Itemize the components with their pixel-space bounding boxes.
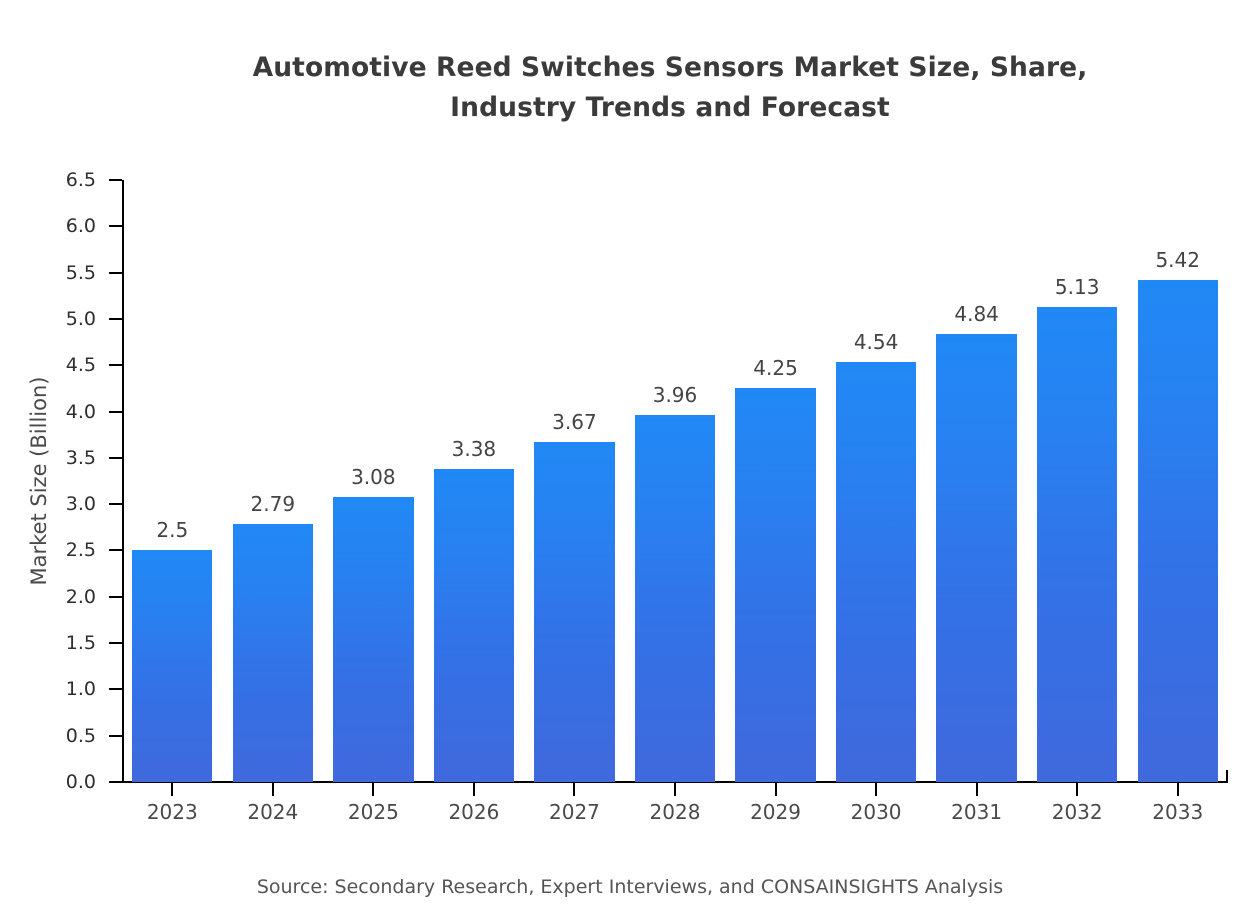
bar[interactable]	[132, 550, 212, 782]
bar-value-label: 2.79	[223, 492, 324, 516]
y-axis-tick-mark	[109, 411, 122, 413]
y-axis-tick-mark	[109, 318, 122, 320]
y-axis-tick-mark	[109, 225, 122, 227]
bar[interactable]	[635, 415, 715, 782]
bar-value-label: 3.96	[625, 383, 726, 407]
y-axis-tick-label: 3.5	[66, 445, 96, 471]
bar[interactable]	[1037, 307, 1117, 782]
y-axis-tick-label: 6.5	[66, 167, 96, 193]
bar-value-label: 4.54	[826, 330, 927, 354]
y-axis-tick-label: 3.0	[66, 491, 96, 517]
x-axis-right-spine-stub	[1226, 770, 1228, 783]
bar-value-label: 5.13	[1027, 275, 1128, 299]
x-axis-tick-mark	[674, 783, 676, 796]
bar[interactable]	[233, 524, 313, 782]
x-axis-tick-mark	[372, 783, 374, 796]
bar[interactable]	[534, 442, 614, 782]
bar[interactable]	[735, 388, 815, 782]
y-axis-tick-mark	[109, 457, 122, 459]
y-axis-tick-mark	[109, 688, 122, 690]
bar[interactable]	[936, 334, 1016, 782]
bar-value-label: 4.84	[926, 302, 1027, 326]
y-axis-tick-label: 5.0	[66, 306, 96, 332]
y-axis-tick-label: 1.5	[66, 630, 96, 656]
bar-value-label: 3.38	[424, 437, 525, 461]
x-axis-tick-mark	[473, 783, 475, 796]
x-axis-tick-mark	[976, 783, 978, 796]
bar-value-label: 5.42	[1127, 248, 1228, 272]
x-axis-tick-mark	[272, 783, 274, 796]
y-axis-tick-label: 0.0	[66, 769, 96, 795]
y-axis-tick-label: 6.0	[66, 213, 96, 239]
y-axis-tick-mark	[109, 272, 122, 274]
y-axis-title: Market Size (Billion)	[22, 180, 56, 782]
chart-title: Automotive Reed Switches Sensors Market …	[130, 48, 1210, 128]
x-axis-tick-mark	[573, 783, 575, 796]
y-axis-tick-mark	[109, 735, 122, 737]
y-axis-tick-mark	[109, 503, 122, 505]
y-axis-tick-mark	[109, 596, 122, 598]
chart-title-line-2: Industry Trends and Forecast	[130, 88, 1210, 128]
bar[interactable]	[333, 497, 413, 782]
y-axis-tick-mark	[109, 781, 122, 783]
source-caption: Source: Secondary Research, Expert Inter…	[0, 876, 1260, 898]
x-axis-tick-mark	[1076, 783, 1078, 796]
x-axis-tick-mark	[1177, 783, 1179, 796]
y-axis-tick-mark	[109, 364, 122, 366]
y-axis-tick-label: 2.5	[66, 537, 96, 563]
chart-title-line-1: Automotive Reed Switches Sensors Market …	[130, 48, 1210, 88]
x-axis-tick-mark	[171, 783, 173, 796]
bar[interactable]	[434, 469, 514, 782]
y-axis-tick-label: 1.0	[66, 676, 96, 702]
bar[interactable]	[836, 362, 916, 782]
bar-value-label: 3.08	[323, 465, 424, 489]
x-axis-tick-mark	[875, 783, 877, 796]
bar-value-label: 3.67	[524, 410, 625, 434]
bar-value-label: 2.5	[122, 518, 223, 542]
y-axis-tick-label: 5.5	[66, 260, 96, 286]
bar[interactable]	[1138, 280, 1218, 782]
y-axis-tick-label: 4.0	[66, 399, 96, 425]
y-axis-tick-label: 2.0	[66, 584, 96, 610]
y-axis-tick-label: 0.5	[66, 723, 96, 749]
x-axis-tick-label: 2033	[1118, 800, 1238, 824]
y-axis-tick-mark	[109, 549, 122, 551]
x-axis-tick-mark	[775, 783, 777, 796]
chart-figure: Automotive Reed Switches Sensors Market …	[0, 0, 1260, 920]
y-axis-spine	[122, 180, 124, 783]
y-axis-tick-label: 4.5	[66, 352, 96, 378]
bar-value-label: 4.25	[725, 356, 826, 380]
y-axis-tick-mark	[109, 179, 122, 181]
y-axis-tick-mark	[109, 642, 122, 644]
